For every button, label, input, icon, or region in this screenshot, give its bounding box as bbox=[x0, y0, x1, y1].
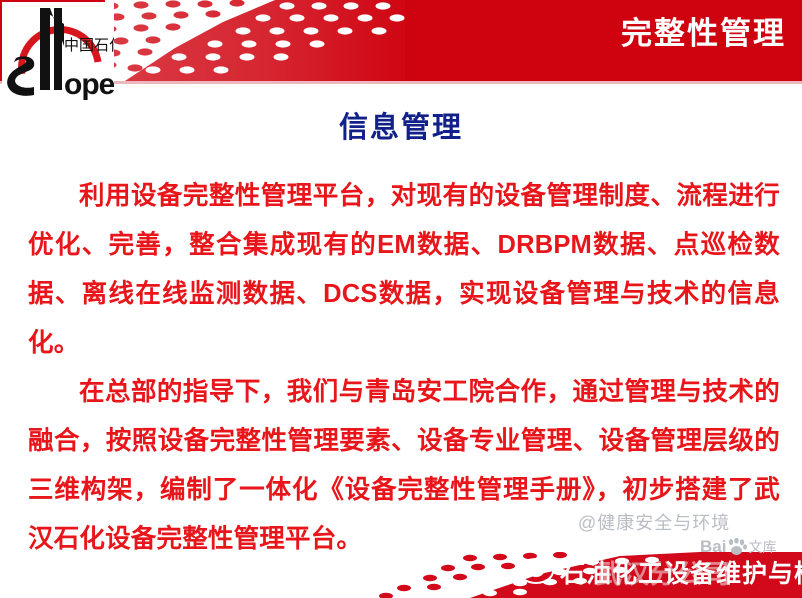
body-paragraph-1: 利用设备完整性管理平台，对现有的设备管理制度、流程进行优化、完善，整合集成现有的… bbox=[28, 172, 780, 368]
svg-text:opec: opec bbox=[64, 68, 114, 101]
branch-watermark: 武汉分公司 bbox=[596, 554, 731, 591]
header-underline bbox=[0, 81, 802, 84]
site-logo-icon bbox=[516, 556, 556, 586]
sinopec-logo: opec 中国石化 bbox=[2, 2, 114, 102]
slide-body: 利用设备完整性管理平台，对现有的设备管理制度、流程进行优化、完善，整合集成现有的… bbox=[28, 172, 780, 564]
header-title: 完整性管理 bbox=[621, 14, 786, 54]
hse-watermark: @健康安全与环境 bbox=[578, 509, 730, 535]
svg-text:中国石化: 中国石化 bbox=[64, 36, 114, 54]
header-halftone-pattern bbox=[105, 0, 405, 81]
slide-canvas: 完整性管理 opec 中国石化 信息管理 利用设备完整性管理平台，对现有的设备管… bbox=[0, 0, 802, 598]
header-banner: 完整性管理 bbox=[0, 0, 802, 81]
page-title: 信息管理 bbox=[0, 108, 802, 148]
